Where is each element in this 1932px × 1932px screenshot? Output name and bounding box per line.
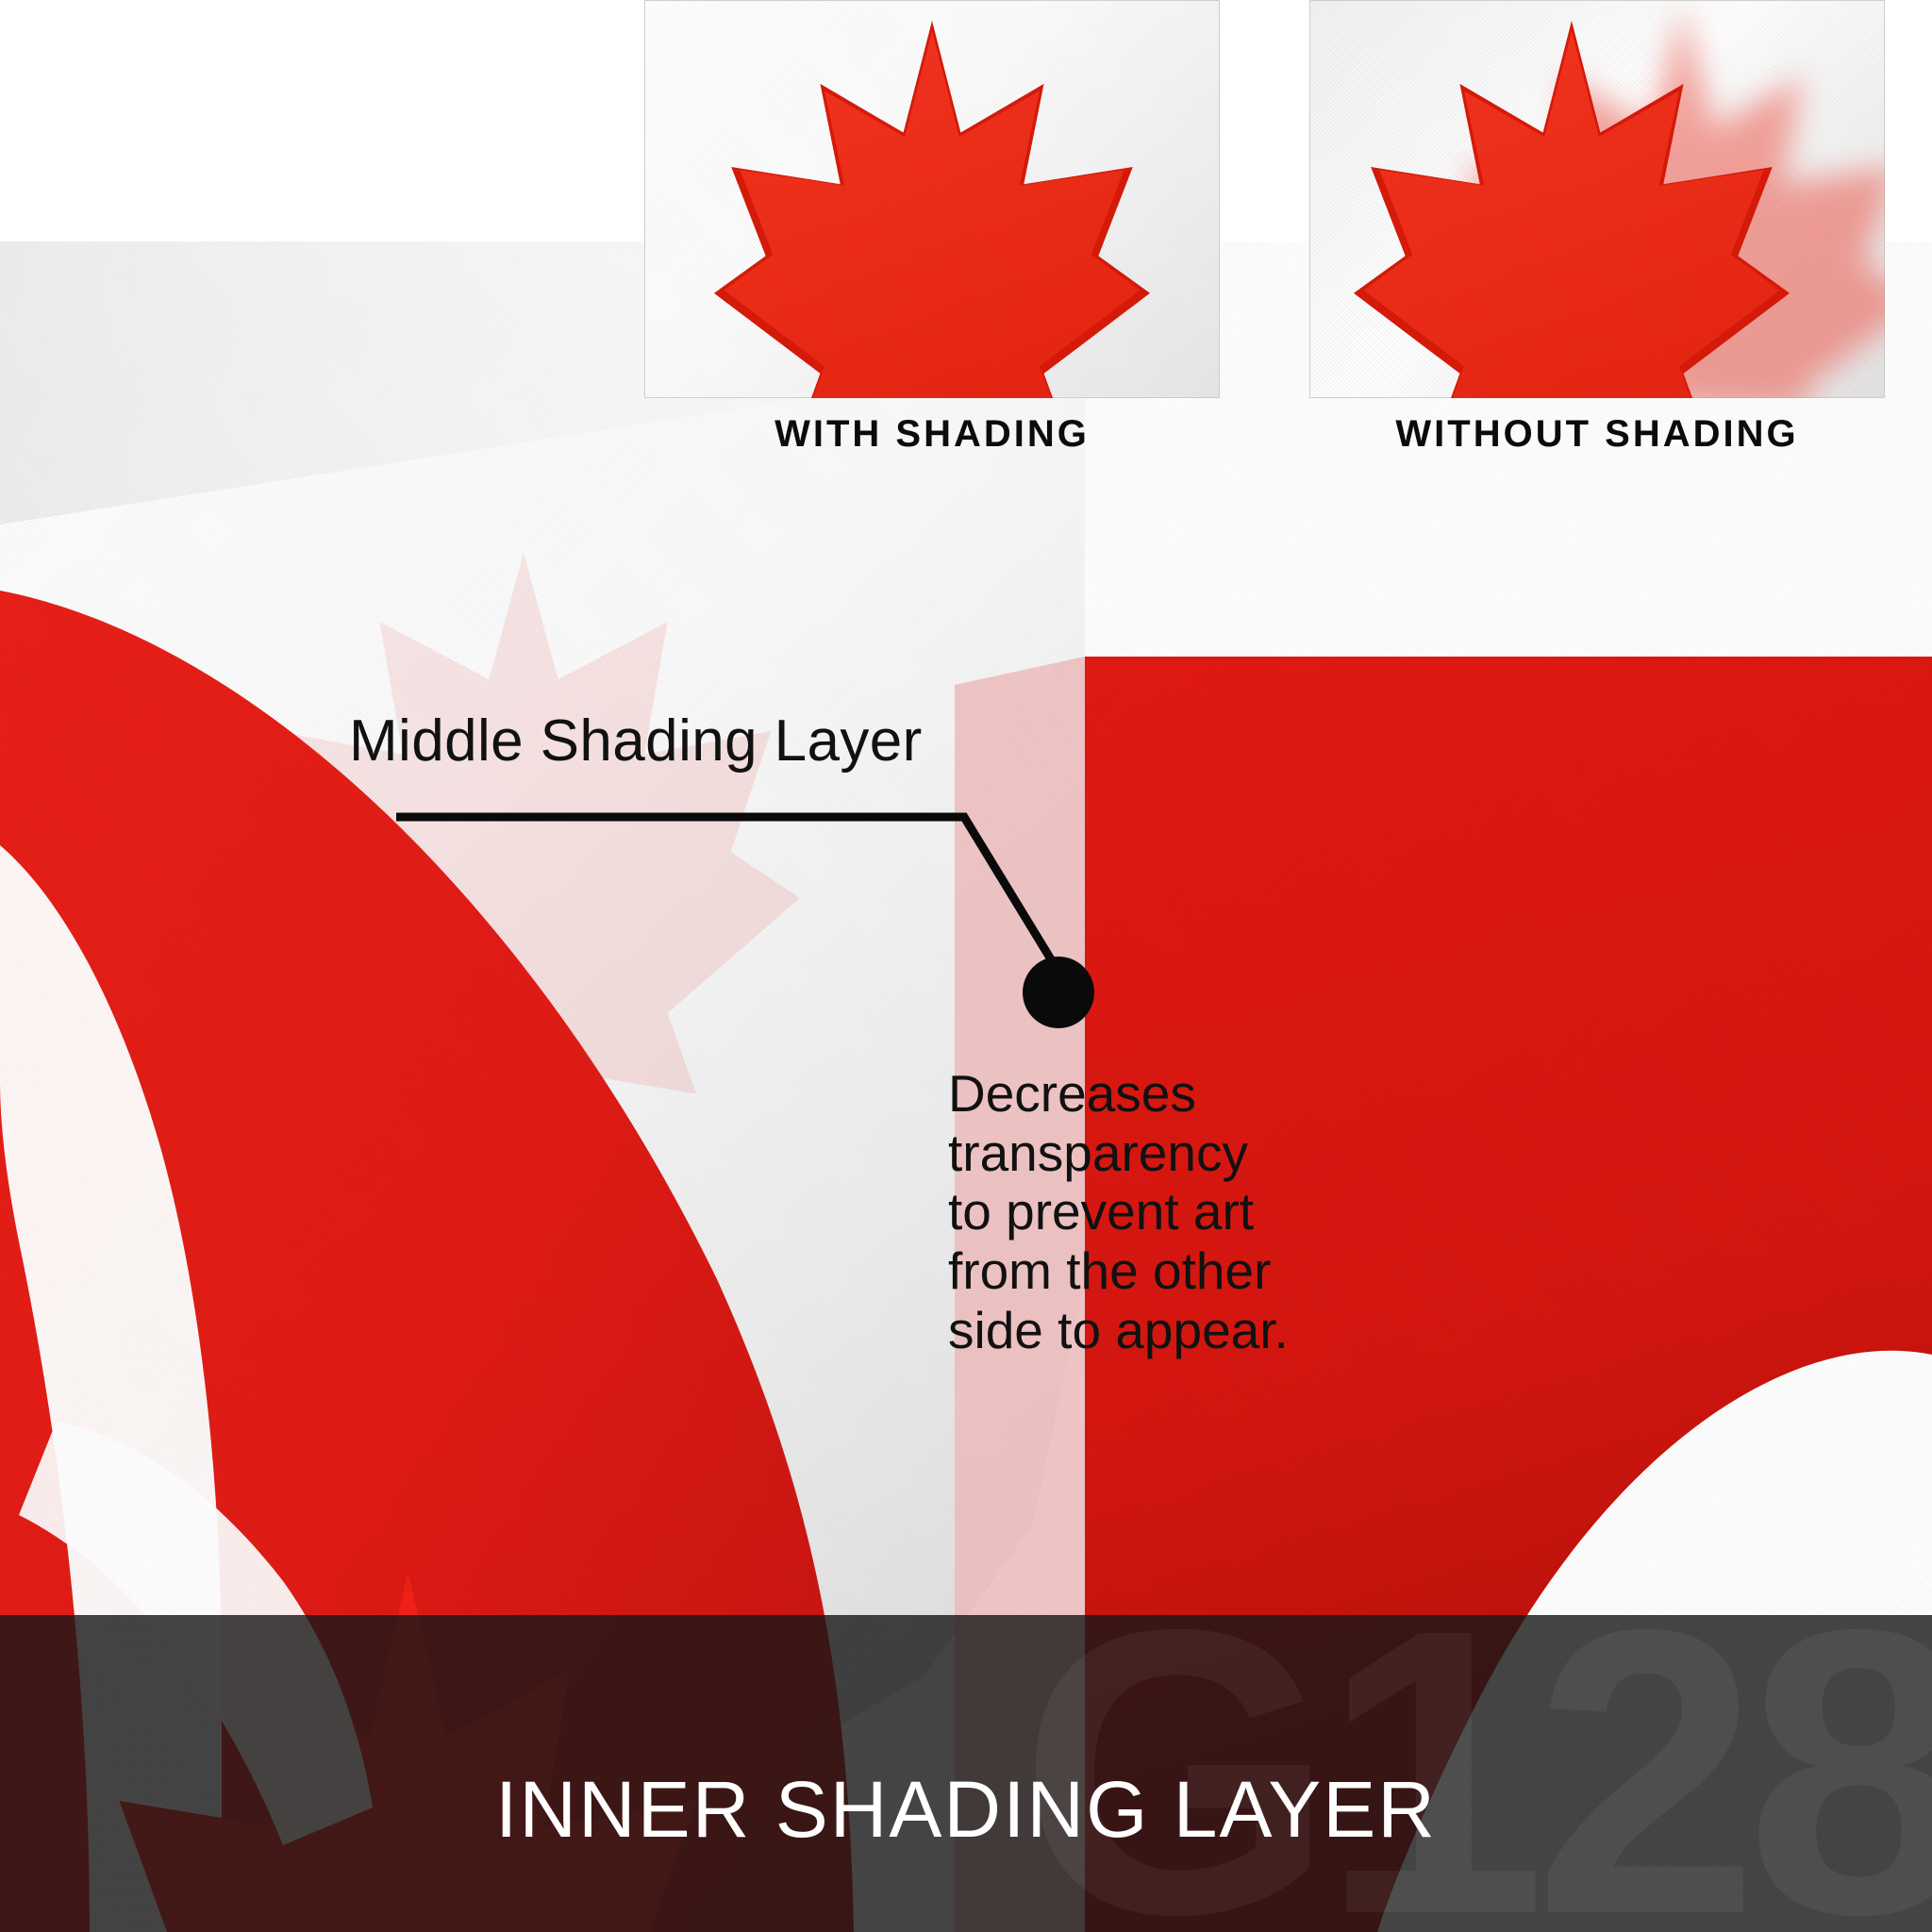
comparison-label-with-shading: WITH SHADING xyxy=(644,413,1220,456)
callout-body-line: from the other xyxy=(948,1241,1307,1301)
callout-body-line: Decreases xyxy=(948,1064,1307,1124)
comparison-label-without-shading: WITHOUT SHADING xyxy=(1309,413,1885,456)
callout-body: Decreases transparency to prevent art fr… xyxy=(948,1064,1307,1359)
callout-body-line: to prevent art xyxy=(948,1182,1307,1241)
callout-body-line: transparency xyxy=(948,1124,1307,1183)
callout-body-line: side to appear. xyxy=(948,1301,1307,1360)
comparison-panel-without-shading xyxy=(1309,0,1885,398)
banner-title: INNER SHADING LAYER xyxy=(0,1764,1932,1856)
maple-leaf-icon xyxy=(644,0,1220,398)
maple-leaf-icon xyxy=(1309,0,1885,398)
comparison-panel-with-shading xyxy=(644,0,1220,398)
infographic-canvas: WITH SHADING WITHOUT SHADING Middle Shad… xyxy=(0,0,1932,1932)
callout-title: Middle Shading Layer xyxy=(349,708,923,774)
